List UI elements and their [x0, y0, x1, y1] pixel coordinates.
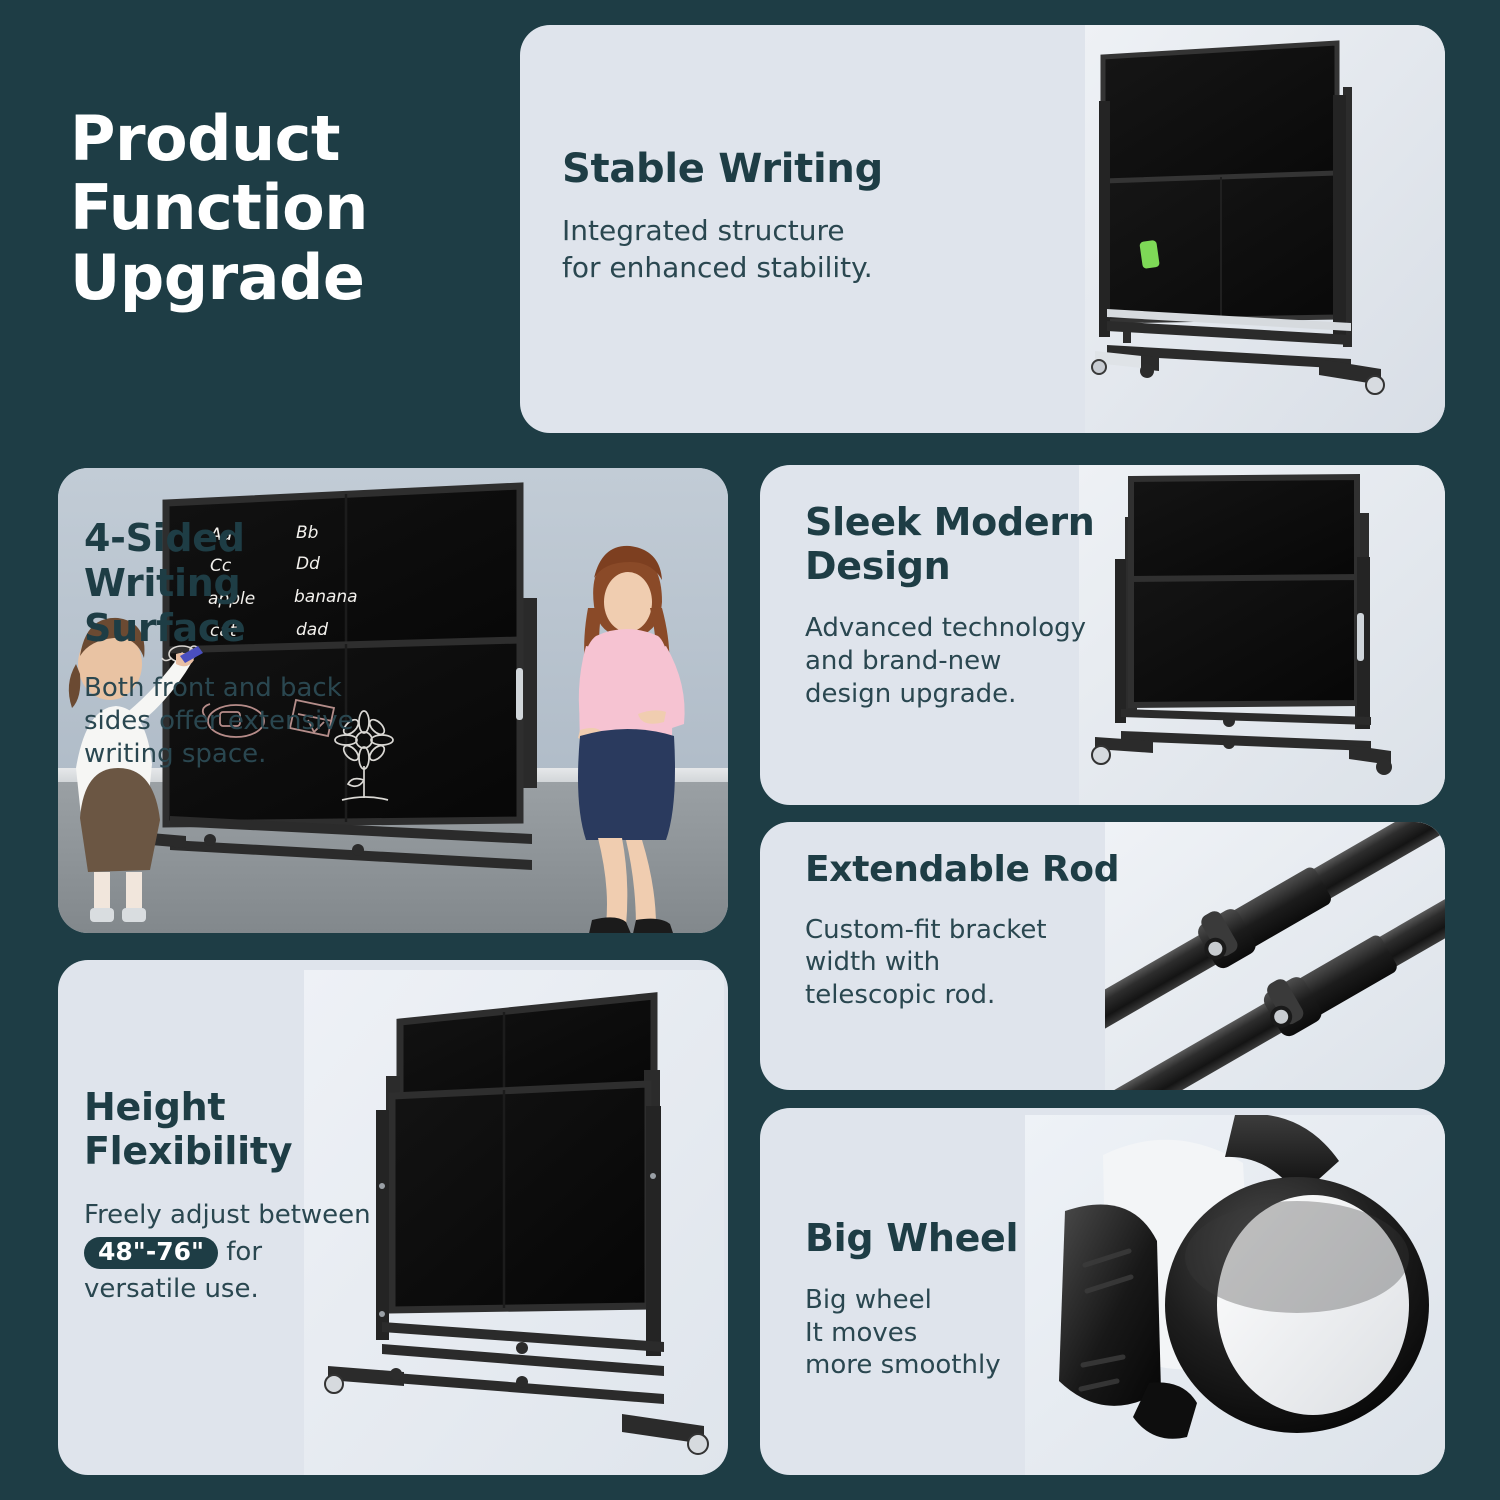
feature-card-height-flexibility-text: Height Flexibility Freely adjust between…	[84, 1085, 459, 1308]
feature-card-stable-writing: Stable Writing Integrated structure for …	[520, 25, 1445, 433]
feature-card-height-flexibility: Height Flexibility Freely adjust between…	[58, 960, 728, 1475]
card-title-stable-writing: Stable Writing	[562, 147, 982, 191]
feature-card-big-wheel: Big Wheel Big wheel It moves more smooth…	[760, 1108, 1445, 1475]
mobile-blackboard-with-eraser-photo	[1085, 25, 1445, 433]
card-body-extendable-rod: Custom-fit bracket width with telescopic…	[805, 914, 1135, 1012]
feature-card-four-sided-text: 4-Sided Writing Surface Both front and b…	[84, 516, 444, 771]
infographic-stage: Product Function Upgrade	[0, 0, 1500, 1500]
card-body-big-wheel: Big wheel It moves more smoothly	[805, 1284, 1105, 1382]
card-body-line: design upgrade.	[805, 678, 1150, 711]
card-body-line: and brand-new	[805, 645, 1150, 678]
card-body-line: writing space.	[84, 738, 444, 771]
card-title-line: Design	[805, 544, 1150, 588]
card-body-line: versatile use.	[84, 1271, 459, 1308]
card-body-line: Integrated structure	[562, 213, 982, 250]
card-body-line: It moves	[805, 1317, 1105, 1350]
card-body-line: Both front and back	[84, 672, 444, 705]
card-title-height-flexibility: Height Flexibility	[84, 1085, 459, 1173]
page-title: Product Function Upgrade	[70, 104, 490, 312]
card-body-line: Freely adjust between	[84, 1197, 459, 1234]
feature-card-sleek-modern-design: Sleek Modern Design Advanced technology …	[760, 465, 1445, 805]
feature-card-stable-writing-text: Stable Writing Integrated structure for …	[562, 147, 982, 287]
card-body-four-sided-writing-surface: Both front and back sides offer extensiv…	[84, 672, 444, 770]
card-title-line: Writing	[84, 561, 444, 606]
telescopic-rod-cam-lock-closeup-photo	[1105, 822, 1445, 1090]
card-title-four-sided-writing-surface: 4-Sided Writing Surface	[84, 516, 444, 650]
card-body-badge-line: 48"-76" for	[84, 1234, 459, 1271]
feature-card-extendable-rod: Extendable Rod Custom-fit bracket width …	[760, 822, 1445, 1090]
feature-card-big-wheel-text: Big Wheel Big wheel It moves more smooth…	[805, 1218, 1105, 1382]
card-body-after-badge: for	[226, 1237, 262, 1267]
card-title-line: Surface	[84, 606, 444, 651]
card-title-line: Flexibility	[84, 1129, 459, 1173]
card-title-big-wheel: Big Wheel	[805, 1218, 1105, 1260]
card-body-line: Big wheel	[805, 1284, 1105, 1317]
feature-card-four-sided-writing-surface: Aa Cc apple cat Bb Dd banana dad	[58, 468, 728, 933]
feature-card-extendable-rod-text: Extendable Rod Custom-fit bracket width …	[805, 850, 1135, 1012]
card-title-extendable-rod: Extendable Rod	[805, 850, 1135, 890]
card-body-sleek-modern-design: Advanced technology and brand-new design…	[805, 612, 1150, 710]
card-body-line: Advanced technology	[805, 612, 1150, 645]
card-body-line: for enhanced stability.	[562, 250, 982, 287]
card-body-line: width with	[805, 946, 1135, 979]
card-title-sleek-modern-design: Sleek Modern Design	[805, 500, 1150, 588]
page-title-line-2: Function	[70, 173, 490, 242]
card-body-line: Custom-fit bracket	[805, 914, 1135, 947]
height-range-badge: 48"-76"	[84, 1237, 218, 1269]
card-body-line: more smoothly	[805, 1349, 1105, 1382]
card-body-stable-writing: Integrated structure for enhanced stabil…	[562, 213, 982, 287]
card-title-line: Sleek Modern	[805, 500, 1150, 544]
card-body-line: sides offer extensive	[84, 705, 444, 738]
card-title-line: Height	[84, 1085, 459, 1129]
feature-card-sleek-modern-design-text: Sleek Modern Design Advanced technology …	[805, 500, 1150, 710]
card-body-height-flexibility: Freely adjust between 48"-76" for versat…	[84, 1197, 459, 1308]
page-title-line-1: Product	[70, 104, 490, 173]
page-title-line-3: Upgrade	[70, 243, 490, 312]
card-title-line: 4-Sided	[84, 516, 444, 561]
card-body-line: telescopic rod.	[805, 979, 1135, 1012]
